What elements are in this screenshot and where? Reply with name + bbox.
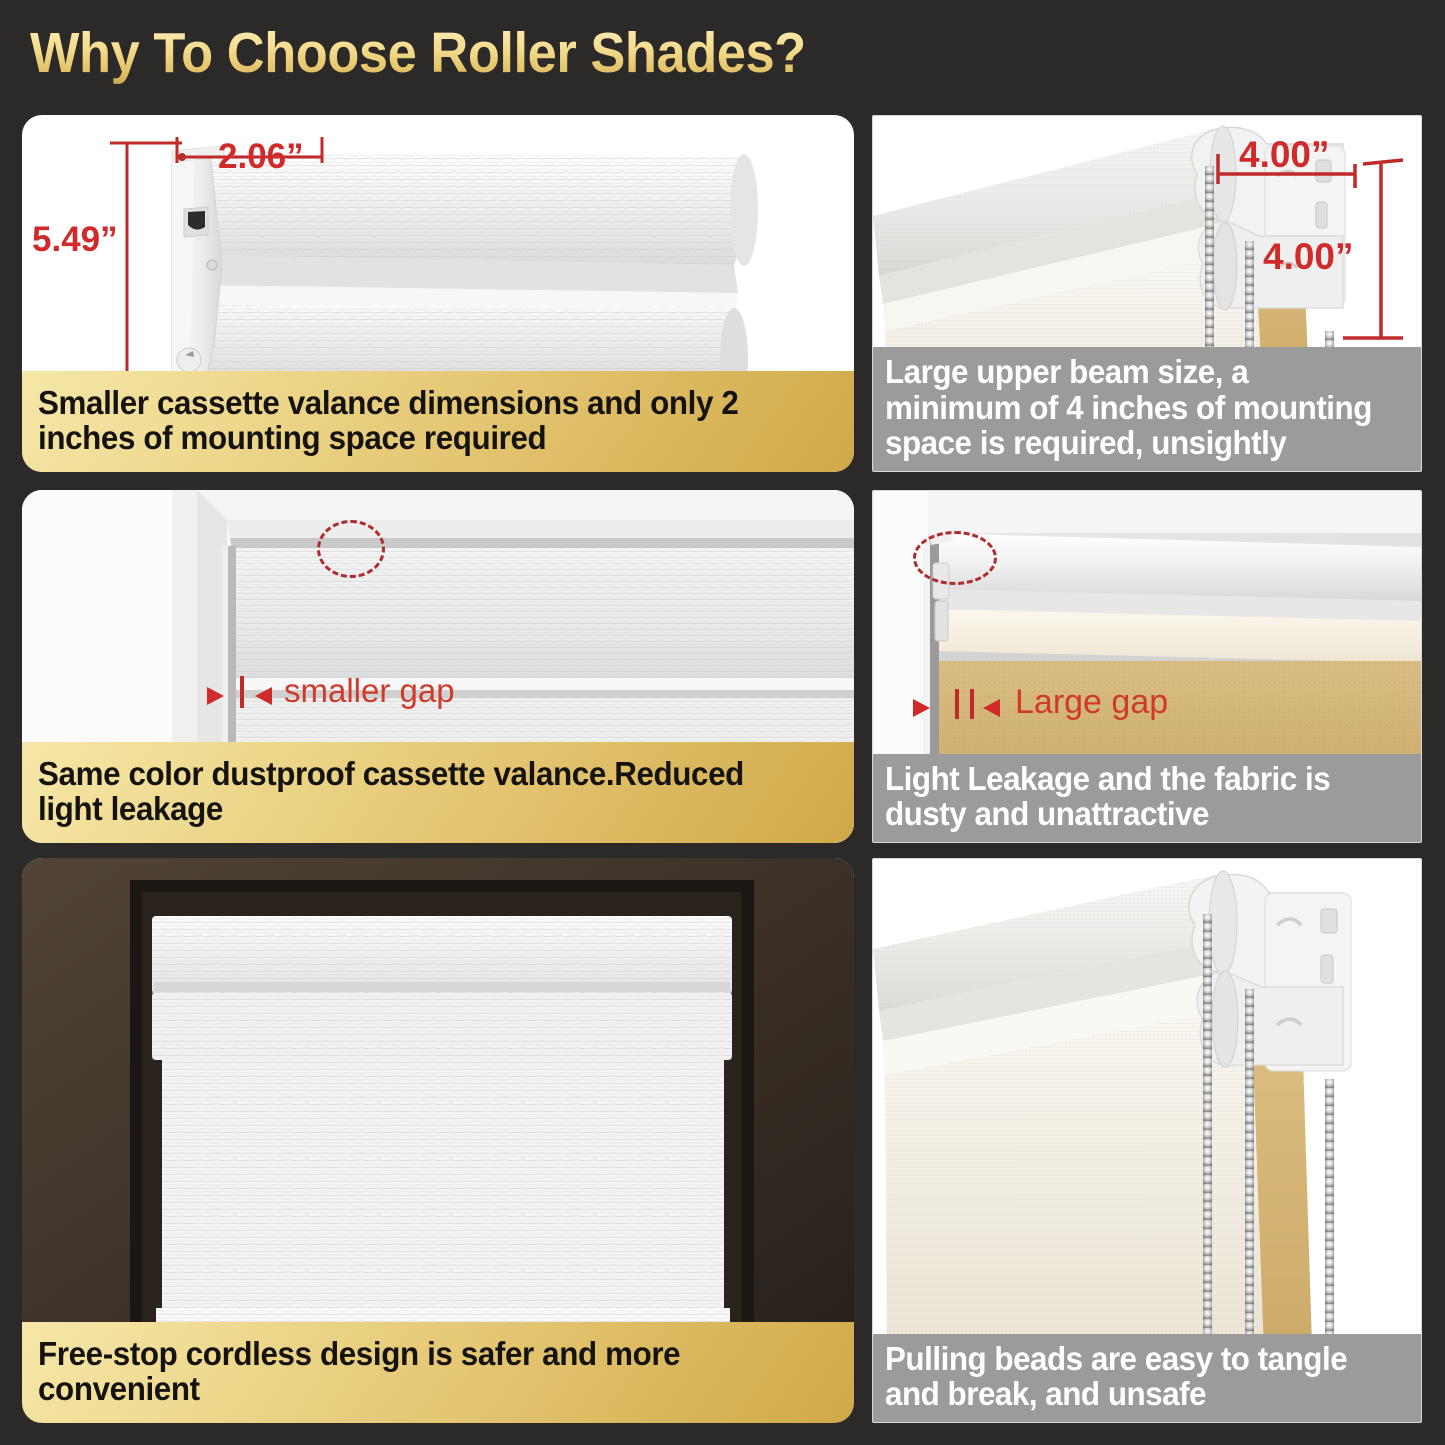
bead-chain-middle: [1245, 989, 1254, 1359]
gap-marker-inner: [970, 689, 974, 719]
panel-pulling-beads: Pulling beads are easy to tangle and bre…: [872, 858, 1422, 1423]
bead-chain-left: [1203, 914, 1212, 1359]
dimension-label-width: 2.06”: [218, 137, 304, 177]
panel-dustproof-valance: smaller gap Same color dustproof cassett…: [22, 490, 854, 843]
comparison-grid: 2.06” 5.49” Smaller cassette valance dim…: [0, 0, 1445, 1445]
gap-marker-outer: [955, 689, 959, 719]
gap-marker: [240, 676, 244, 708]
panel-2-caption-bar: Large upper beam size, a minimum of 4 in…: [873, 347, 1421, 471]
dimension-label-width: 4.00”: [1239, 134, 1330, 176]
panel-2-caption-text: Large upper beam size, a minimum of 4 in…: [885, 354, 1383, 461]
bead-chain-right: [1325, 1079, 1334, 1359]
panel-4-caption-bar: Light Leakage and the fabric is dusty an…: [873, 754, 1421, 842]
panel-large-upper-beam: 4.00” 4.00” Large upper beam size, a min…: [872, 115, 1422, 472]
highlight-ellipse: [913, 531, 997, 585]
panel-4-caption-text: Light Leakage and the fabric is dusty an…: [885, 761, 1383, 832]
panel-3-caption-bar: Same color dustproof cassette valance.Re…: [22, 742, 854, 843]
panel-1-caption-bar: Smaller cassette valance dimensions and …: [22, 371, 854, 472]
dimension-label-height: 5.49”: [32, 220, 118, 260]
gap-arrow-right-icon: [207, 687, 224, 705]
dimension-label-height: 4.00”: [1263, 236, 1354, 278]
highlight-ellipse: [317, 520, 385, 578]
gap-arrow-left-icon: [983, 699, 1000, 717]
gap-label: Large gap: [1015, 683, 1168, 722]
panel-5-caption-bar: Free-stop cordless design is safer and m…: [22, 1322, 854, 1423]
panel-cordless-design: Free-stop cordless design is safer and m…: [22, 858, 854, 1423]
panel-6-caption-text: Pulling beads are easy to tangle and bre…: [885, 1341, 1383, 1412]
gap-arrow-left-icon: [255, 687, 272, 705]
panel-6-caption-bar: Pulling beads are easy to tangle and bre…: [873, 1334, 1421, 1422]
panel-5-caption-text: Free-stop cordless design is safer and m…: [38, 1336, 798, 1407]
panel-smaller-cassette: 2.06” 5.49” Smaller cassette valance dim…: [22, 115, 854, 472]
gap-arrow-right-icon: [913, 699, 930, 717]
panel-3-caption-text: Same color dustproof cassette valance.Re…: [38, 756, 798, 827]
gap-label: smaller gap: [284, 672, 455, 710]
panel-1-caption-text: Smaller cassette valance dimensions and …: [38, 385, 798, 456]
panel-light-leakage: Large gap Light Leakage and the fabric i…: [872, 490, 1422, 843]
